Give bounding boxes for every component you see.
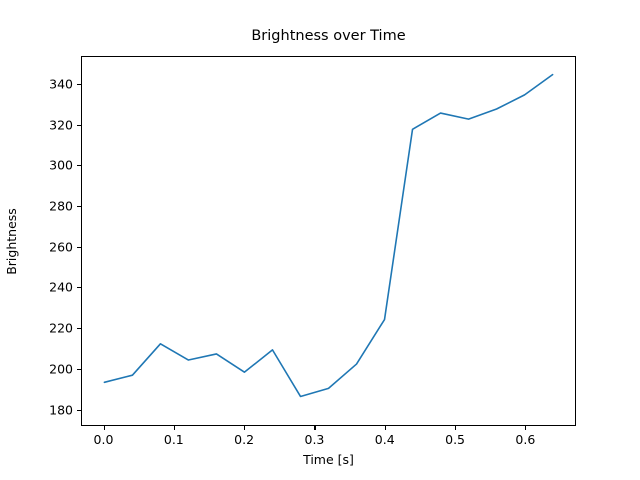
x-tick-mark [455, 426, 456, 430]
x-tick-mark [174, 426, 175, 430]
x-tick-label: 0.2 [234, 432, 254, 447]
y-axis-label: Brightness [0, 56, 22, 426]
y-tick-label: 260 [73, 239, 97, 254]
y-tick-label: 180 [73, 402, 97, 417]
y-tick-label: 240 [73, 280, 97, 295]
x-tick-mark [314, 426, 315, 430]
x-tick-mark [104, 426, 105, 430]
x-tick-mark [525, 426, 526, 430]
y-tick-label: 340 [73, 76, 97, 91]
x-tick-label: 0.3 [304, 432, 324, 447]
y-axis-label-text: Brightness [4, 208, 19, 275]
y-tick-label: 200 [73, 361, 97, 376]
data-line-svg [82, 57, 575, 425]
x-tick-label: 0.6 [515, 432, 535, 447]
x-tick-mark [385, 426, 386, 430]
x-tick-mark [244, 426, 245, 430]
plot-area [81, 56, 576, 426]
series-line [104, 75, 552, 397]
figure-canvas: Brightness over Time 0.00.10.20.30.40.50… [0, 0, 640, 480]
y-tick-label: 220 [73, 321, 97, 336]
x-tick-label: 0.4 [375, 432, 395, 447]
x-tick-label: 0.0 [94, 432, 114, 447]
chart-title: Brightness over Time [81, 28, 576, 44]
y-tick-label: 280 [73, 198, 97, 213]
x-tick-label: 0.5 [445, 432, 465, 447]
y-tick-label: 320 [73, 117, 97, 132]
y-tick-label: 300 [73, 158, 97, 173]
x-tick-label: 0.1 [164, 432, 184, 447]
x-axis-label: Time [s] [81, 452, 576, 467]
